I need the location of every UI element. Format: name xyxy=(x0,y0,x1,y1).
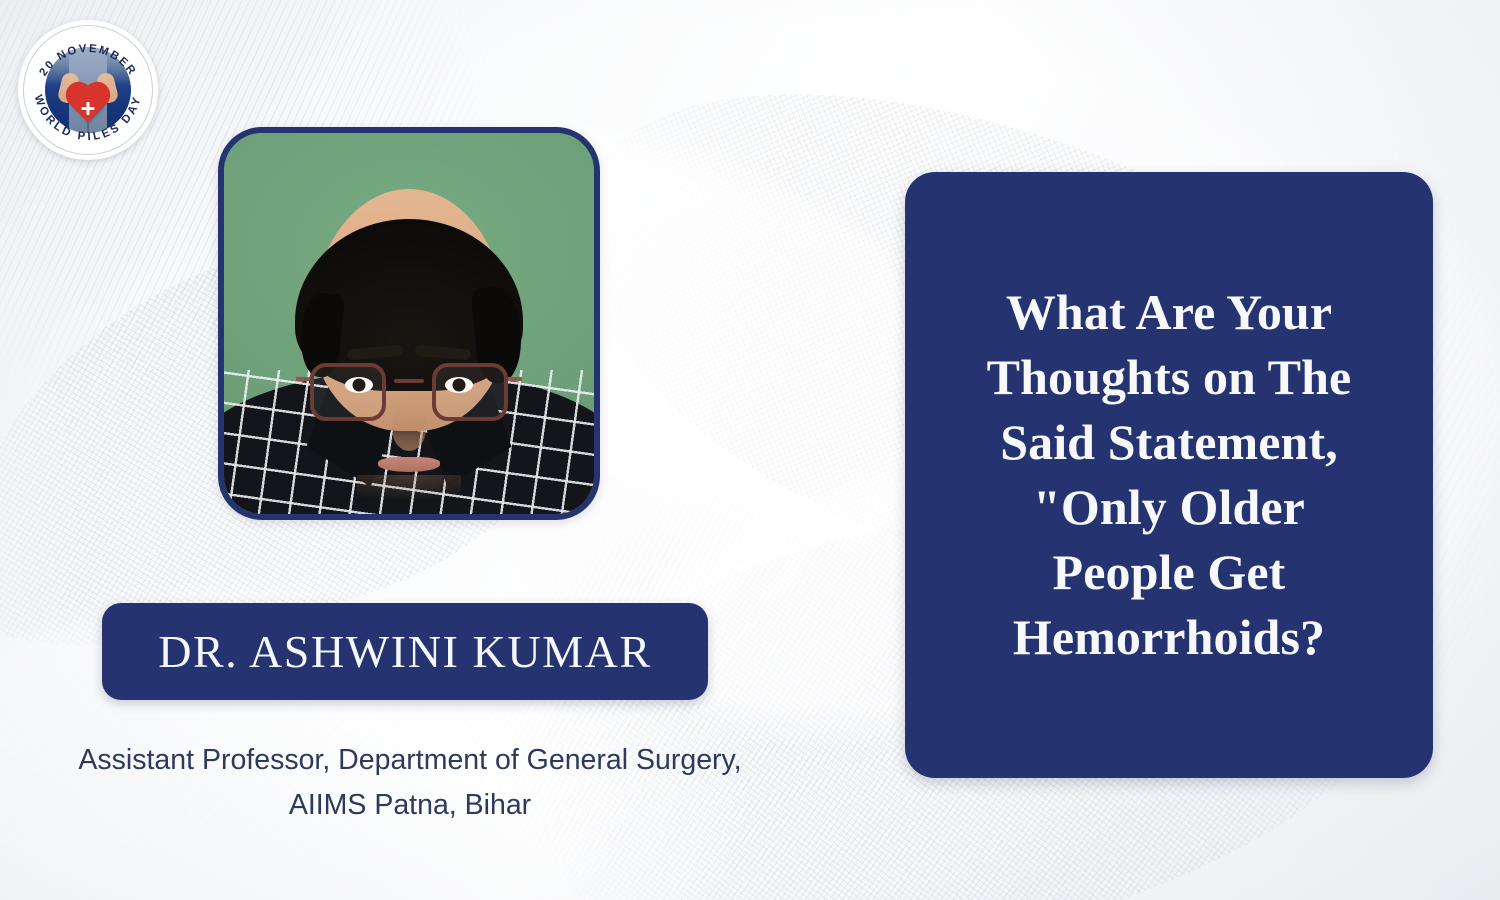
portrait-iris-right xyxy=(453,379,466,392)
question-line: Said Statement, xyxy=(987,410,1352,475)
logo-date-textpath: 20 NOVEMBER xyxy=(37,43,138,78)
glasses-temple-right xyxy=(508,377,522,381)
portrait-eye-right xyxy=(445,377,473,393)
portrait-chin-shadow xyxy=(357,475,461,501)
question-line: Thoughts on The xyxy=(987,345,1352,410)
affiliation-line-2: AIIMS Patna, Bihar xyxy=(20,783,800,828)
affiliation-line-1: Assistant Professor, Department of Gener… xyxy=(20,738,800,783)
question-line: What Are Your xyxy=(987,280,1352,345)
portrait-eye-left xyxy=(345,377,373,393)
glasses-temple-left xyxy=(296,377,310,381)
glasses-lens-left xyxy=(310,363,386,421)
logo-date-text: 20 NOVEMBER xyxy=(37,43,138,78)
question-panel: What Are Your Thoughts on The Said State… xyxy=(905,172,1433,778)
question-line: People Get xyxy=(987,540,1352,605)
doctor-affiliation: Assistant Professor, Department of Gener… xyxy=(20,738,800,828)
doctor-name-banner: DR. ASHWINI KUMAR xyxy=(102,603,708,700)
eyeglasses-icon xyxy=(302,357,516,431)
logo-curved-text: 20 NOVEMBER WORLD PILES DAY xyxy=(18,20,158,160)
doctor-portrait-image xyxy=(224,133,594,514)
poster-canvas: 20 NOVEMBER WORLD PILES DAY xyxy=(0,0,1500,900)
portrait-mouth xyxy=(378,457,440,472)
portrait-head xyxy=(311,189,507,431)
question-line: Hemorrhoids? xyxy=(987,605,1352,670)
glasses-lens-right xyxy=(432,363,508,421)
glasses-bridge xyxy=(394,379,424,383)
logo-title-textpath: WORLD PILES DAY xyxy=(32,93,144,143)
doctor-photo-card xyxy=(218,127,600,520)
question-line: "Only Older xyxy=(987,475,1352,540)
world-piles-day-logo: 20 NOVEMBER WORLD PILES DAY xyxy=(18,20,158,160)
portrait-iris-left xyxy=(353,379,366,392)
doctor-name-label: DR. ASHWINI KUMAR xyxy=(158,629,652,675)
logo-title-text: WORLD PILES DAY xyxy=(32,93,144,143)
question-text: What Are Your Thoughts on The Said State… xyxy=(987,280,1352,670)
